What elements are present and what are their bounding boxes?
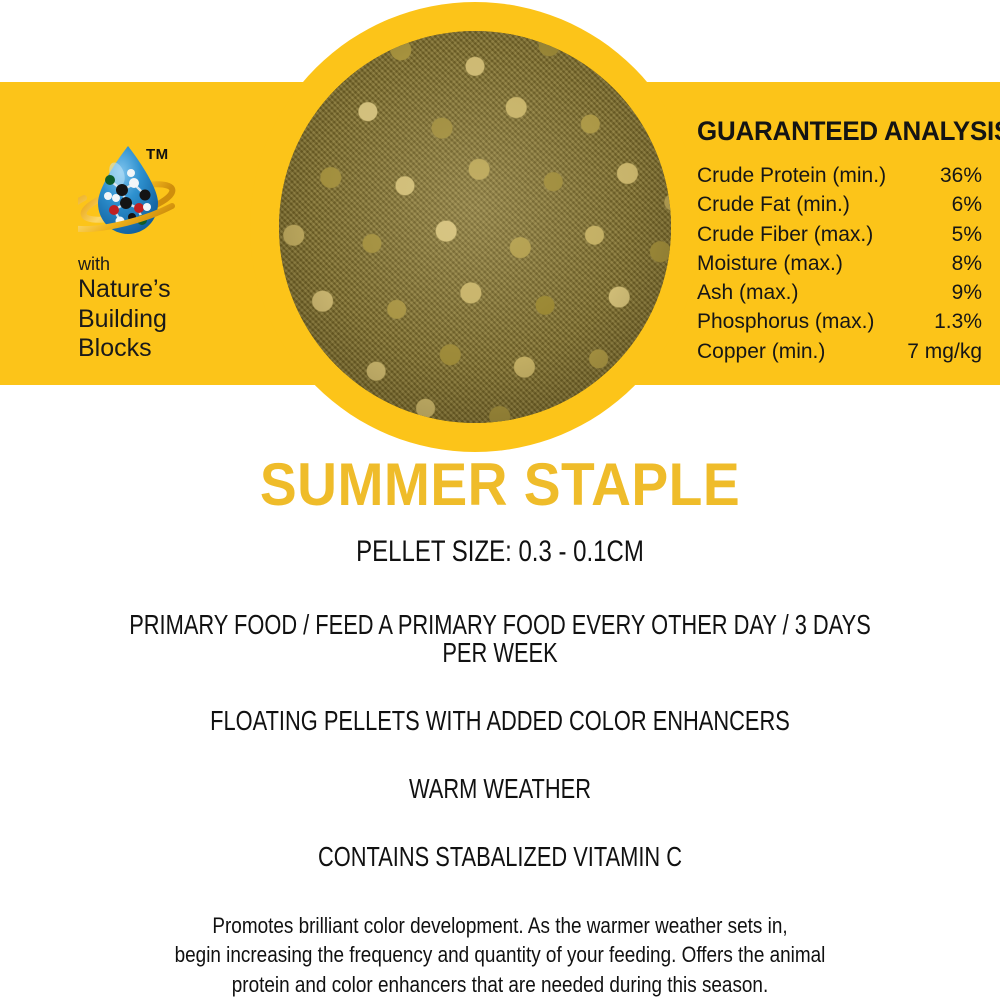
feature-line-4: CONTAINS STABALIZED VITAMIN C [110, 843, 890, 871]
nutrient-value: 8% [901, 249, 982, 278]
nutrient-value: 6% [901, 190, 982, 219]
nutrient-label: Crude Fat (min.) [697, 190, 901, 219]
table-row: Ash (max.) 9% [697, 278, 982, 307]
nutrient-label: Copper (min.) [697, 337, 901, 366]
guaranteed-analysis-panel: GUARANTEED ANALYSIS Crude Protein (min.)… [697, 116, 982, 366]
feature-line-2: FLOATING PELLETS WITH ADDED COLOR ENHANC… [110, 707, 890, 735]
trademark-symbol: TM [146, 146, 169, 163]
brand-caption-line3: Blocks [78, 334, 228, 364]
table-row: Moisture (max.) 8% [697, 249, 982, 278]
feature-line-1: PRIMARY FOOD / FEED A PRIMARY FOOD EVERY… [110, 611, 890, 667]
nutrient-label: Crude Fiber (max.) [697, 220, 901, 249]
feature-line-3: WARM WEATHER [110, 775, 890, 803]
description-line-2: begin increasing the frequency and quant… [70, 940, 930, 969]
description-paragraph: Promotes brilliant color development. As… [70, 911, 930, 999]
table-row: Crude Fiber (max.) 5% [697, 220, 982, 249]
pellet-size-label: PELLET SIZE: 0.3 - 0.1CM [100, 535, 900, 569]
guaranteed-analysis-table: Crude Protein (min.) 36% Crude Fat (min.… [697, 161, 982, 366]
nutrient-value: 36% [901, 161, 982, 190]
pellet-photo [279, 31, 671, 423]
page-title: SUMMER STAPLE [40, 455, 960, 515]
nutrient-label: Crude Protein (min.) [697, 161, 901, 190]
table-row: Crude Fat (min.) 6% [697, 190, 982, 219]
description-line-1: Promotes brilliant color development. As… [70, 911, 930, 940]
brand-caption: with Nature’s Building Blocks [78, 254, 228, 364]
product-photo-circle [250, 2, 700, 452]
description-line-3: protein and color enhancers that are nee… [70, 970, 930, 999]
guaranteed-analysis-heading: GUARANTEED ANALYSIS [697, 116, 971, 147]
nutrient-value: 1.3% [901, 307, 982, 336]
brand-caption-line1: Nature’s [78, 275, 228, 305]
nutrient-value: 7 mg/kg [901, 337, 982, 366]
nutrient-value: 9% [901, 278, 982, 307]
brand-caption-with: with [78, 254, 228, 275]
nutrient-label: Moisture (max.) [697, 249, 901, 278]
table-row: Phosphorus (max.) 1.3% [697, 307, 982, 336]
nutrient-label: Ash (max.) [697, 278, 901, 307]
table-row: Copper (min.) 7 mg/kg [697, 337, 982, 366]
brand-caption-line2: Building [78, 305, 228, 335]
table-row: Crude Protein (min.) 36% [697, 161, 982, 190]
brand-logo-block: TM with Nature’s Building Blocks [78, 140, 228, 364]
nutrient-value: 5% [901, 220, 982, 249]
pellet-vignette [279, 31, 671, 423]
product-copy-block: SUMMER STAPLE PELLET SIZE: 0.3 - 0.1CM P… [0, 455, 1000, 999]
product-label: TM with Nature’s Building Blocks GUARANT… [0, 0, 1000, 925]
water-droplet-molecule-icon: TM [78, 140, 178, 246]
nutrient-label: Phosphorus (max.) [697, 307, 901, 336]
